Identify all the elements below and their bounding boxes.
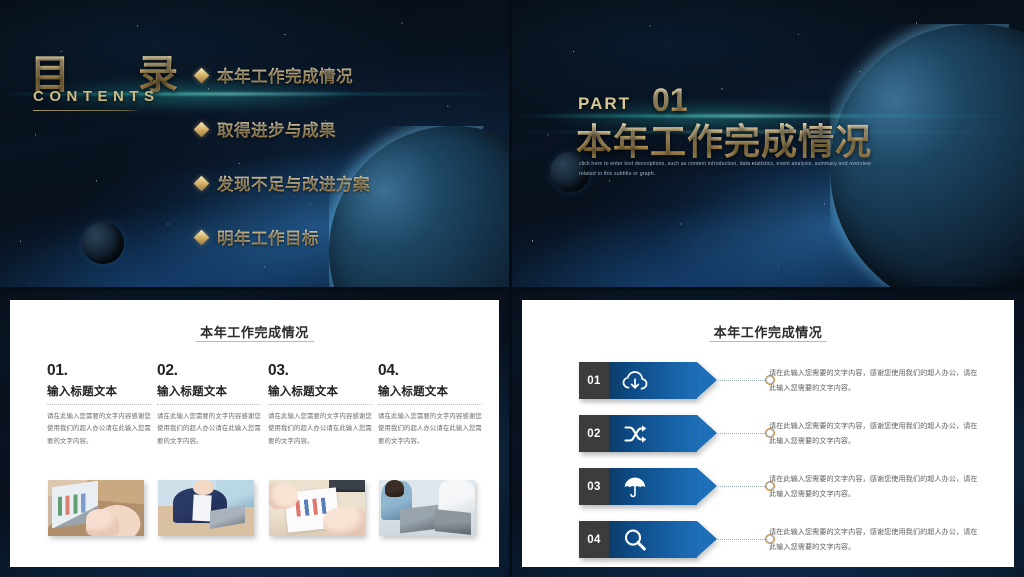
column-2[interactable]: 02. 输入标题文本 请在此输入您需要的文字内容感谢您使用我们的超人办公请在此输… <box>157 362 261 448</box>
diamond-bullet-icon <box>194 67 210 83</box>
part-description: click here to enter text descriptions, s… <box>579 160 879 179</box>
column-divider <box>378 404 482 405</box>
contents-list: 本年工作完成情况 取得进步与成果 发现不足与改进方案 明年工作目标 <box>196 48 486 264</box>
contents-title-underline <box>33 110 141 111</box>
arrow-number: 01 <box>579 362 609 399</box>
contents-title-en: CONTENTS <box>33 88 160 105</box>
column-heading: 输入标题文本 <box>157 383 261 399</box>
column-body: 请在此输入您需要的文字内容感谢您使用我们的超人办公请在此输入您需要的文字内容。 <box>268 411 372 448</box>
connector-line <box>718 380 767 381</box>
slide-arrow-list[interactable]: 本年工作完成情况 01 请在此输入您需要的文字内容，感谢您使用我们的超人办公，请… <box>512 290 1024 577</box>
diamond-bullet-icon <box>194 229 210 245</box>
diamond-bullet-icon <box>194 175 210 191</box>
contents-item-2[interactable]: 取得进步与成果 <box>196 102 486 156</box>
contents-item-4[interactable]: 明年工作目标 <box>196 210 486 264</box>
photo-hair-left <box>385 480 404 497</box>
connector-line <box>718 486 767 487</box>
contents-item-1[interactable]: 本年工作完成情况 <box>196 48 486 102</box>
moon-graphic <box>82 222 124 264</box>
page-title-underline <box>196 341 314 342</box>
column-divider <box>268 404 372 405</box>
column-photo-2[interactable] <box>158 480 254 536</box>
contents-item-3[interactable]: 发现不足与改进方案 <box>196 156 486 210</box>
arrow-row-text: 请在此输入您需要的文字内容，感谢您使用我们的超人办公，请在此输入您需要的文字内容… <box>769 366 984 395</box>
arrow-row-text: 请在此输入您需要的文字内容，感谢您使用我们的超人办公，请在此输入您需要的文字内容… <box>769 419 984 448</box>
column-body: 请在此输入您需要的文字内容感谢您使用我们的超人办公请在此输入您需要的文字内容。 <box>157 411 261 448</box>
page-title-underline <box>709 341 827 342</box>
column-photo-3[interactable] <box>269 480 365 536</box>
column-heading: 输入标题文本 <box>378 383 482 399</box>
column-photo-4[interactable] <box>379 480 475 536</box>
part-heading: 本年工作完成情况 <box>576 113 872 165</box>
column-heading: 输入标题文本 <box>47 383 151 399</box>
contents-item-label: 发现不足与改进方案 <box>217 171 370 195</box>
magnifier-icon <box>615 521 655 558</box>
slide-contents[interactable]: 目 录 CONTENTS 本年工作完成情况 取得进步与成果 发现不足与改进方案 … <box>0 0 509 287</box>
arrow-row-1[interactable]: 01 <box>579 362 709 399</box>
photo-laptop-3 <box>400 505 438 533</box>
column-3[interactable]: 03. 输入标题文本 请在此输入您需要的文字内容感谢您使用我们的超人办公请在此输… <box>268 362 372 448</box>
arrow-row-3[interactable]: 03 <box>579 468 709 505</box>
umbrella-icon <box>615 468 655 505</box>
diamond-bullet-icon <box>194 121 210 137</box>
contents-item-label: 明年工作目标 <box>217 225 319 249</box>
arrow-number: 02 <box>579 415 609 452</box>
contents-item-label: 本年工作完成情况 <box>217 63 353 87</box>
connector-line <box>718 539 767 540</box>
column-number: 03. <box>268 362 372 380</box>
cloud-download-icon <box>615 362 655 399</box>
photo-chart-bars <box>58 493 87 516</box>
part-label: PART <box>578 94 631 114</box>
column-body: 请在此输入您需要的文字内容感谢您使用我们的超人办公请在此输入您需要的文字内容。 <box>378 411 482 448</box>
column-photo-1[interactable] <box>48 480 144 536</box>
arrow-tip <box>697 415 717 451</box>
photo-shirt <box>192 494 212 521</box>
arrow-tip <box>697 468 717 504</box>
shuffle-icon <box>615 415 655 452</box>
column-number: 02. <box>157 362 261 380</box>
slide-part-01[interactable]: PART 01 本年工作完成情况 click here to enter tex… <box>512 0 1024 287</box>
content-card: 本年工作完成情况 01. 输入标题文本 请在此输入您需要的文字内容感谢您使用我们… <box>10 300 499 567</box>
arrow-tip <box>697 362 717 398</box>
content-card: 本年工作完成情况 01 请在此输入您需要的文字内容，感谢您使用我们的超人办公，请… <box>522 300 1014 567</box>
column-number: 01. <box>47 362 151 380</box>
slide-grid: 目 录 CONTENTS 本年工作完成情况 取得进步与成果 发现不足与改进方案 … <box>0 0 1024 577</box>
arrow-number: 04 <box>579 521 609 558</box>
photo-laptop-4 <box>435 509 471 535</box>
column-divider <box>157 404 261 405</box>
column-number: 04. <box>378 362 482 380</box>
arrow-row-text: 请在此输入您需要的文字内容，感谢您使用我们的超人办公，请在此输入您需要的文字内容… <box>769 525 984 554</box>
arrow-tip <box>697 521 717 557</box>
arrow-row-2[interactable]: 02 <box>579 415 709 452</box>
contents-item-label: 取得进步与成果 <box>217 117 336 141</box>
column-4[interactable]: 04. 输入标题文本 请在此输入您需要的文字内容感谢您使用我们的超人办公请在此输… <box>378 362 482 448</box>
column-heading: 输入标题文本 <box>268 383 372 399</box>
photo-head <box>193 480 214 495</box>
page-title: 本年工作完成情况 <box>522 322 1014 341</box>
photo-hand-3 <box>323 507 365 536</box>
arrow-row-4[interactable]: 04 <box>579 521 709 558</box>
arrow-number: 03 <box>579 468 609 505</box>
column-1[interactable]: 01. 输入标题文本 请在此输入您需要的文字内容感谢您使用我们的超人办公请在此输… <box>47 362 151 448</box>
column-divider <box>47 404 151 405</box>
column-body: 请在此输入您需要的文字内容感谢您使用我们的超人办公请在此输入您需要的文字内容。 <box>47 411 151 448</box>
connector-line <box>718 433 767 434</box>
slide-four-columns[interactable]: 本年工作完成情况 01. 输入标题文本 请在此输入您需要的文字内容感谢您使用我们… <box>0 290 509 577</box>
page-title: 本年工作完成情况 <box>10 322 499 341</box>
arrow-row-text: 请在此输入您需要的文字内容，感谢您使用我们的超人办公，请在此输入您需要的文字内容… <box>769 472 984 501</box>
photo-hand-2 <box>269 483 298 509</box>
